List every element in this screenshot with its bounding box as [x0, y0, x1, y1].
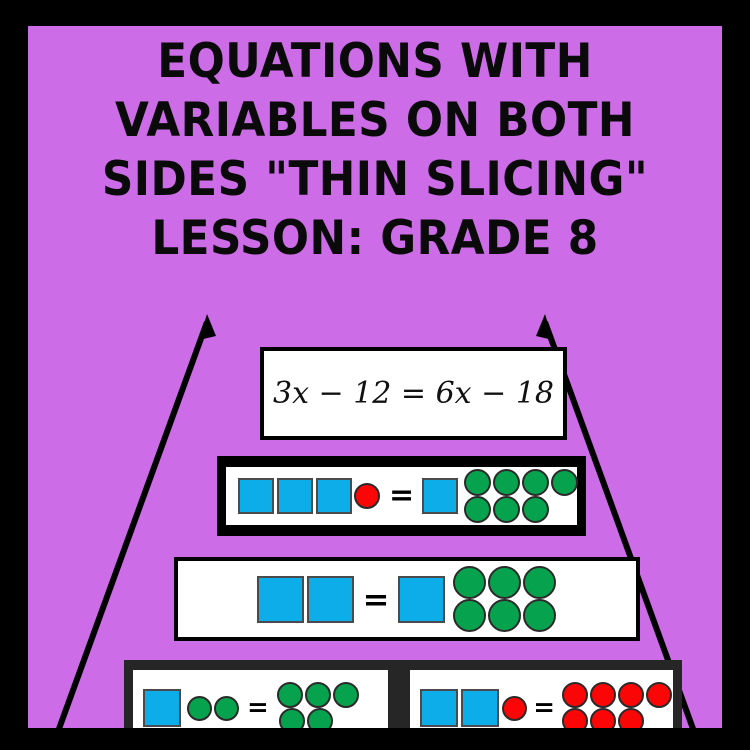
green-circle-chip [464, 496, 491, 523]
red-circle-chip [618, 708, 644, 728]
green-circle-chip [453, 599, 486, 632]
green-chip-stack [463, 469, 579, 523]
green-circle-chip [493, 496, 520, 523]
green-circle-chip [493, 469, 520, 496]
tier4-left-expression: = [143, 682, 360, 728]
equals-sign: = [363, 583, 390, 615]
equals-sign: = [247, 695, 269, 721]
tier3-left-side [257, 576, 354, 623]
red-chip-stack [561, 682, 673, 728]
green-circle-chip [307, 708, 333, 728]
green-circle-chip [551, 469, 578, 496]
red-circle-chip [590, 708, 616, 728]
equation-text: 3x − 12 = 6x − 18 [273, 376, 554, 411]
chip-row-bottom [452, 599, 557, 632]
tier3-right-side [398, 566, 557, 632]
red-circle-chip [646, 682, 672, 708]
tier2-panel: = [226, 467, 577, 525]
green-circle-chip [333, 682, 359, 708]
blue-square-tile [398, 576, 445, 623]
red-circle-chip [502, 696, 527, 721]
blue-square-tile [422, 478, 458, 514]
page-title: EQUATIONS WITH VARIABLES ON BOTH SIDES "… [28, 32, 722, 268]
red-circle-chip [562, 708, 588, 728]
green-circle-chip [523, 566, 556, 599]
poster-canvas: EQUATIONS WITH VARIABLES ON BOTH SIDES "… [28, 26, 722, 728]
chip-row-top [561, 682, 673, 708]
red-circle-chip [562, 682, 588, 708]
green-chip-stack [276, 682, 360, 728]
algebra-tiles-row-2: = [217, 456, 586, 536]
tier2-left-side [238, 478, 380, 514]
equals-sign: = [533, 695, 555, 721]
poster-root: EQUATIONS WITH VARIABLES ON BOTH SIDES "… [0, 0, 750, 750]
green-circle-chip [453, 566, 486, 599]
blue-square-tile [277, 478, 313, 514]
algebra-tiles-row-3: = [174, 557, 640, 641]
green-circle-chip [305, 682, 331, 708]
green-circle-chip [277, 682, 303, 708]
title-line-1: EQUATIONS WITH [52, 32, 697, 91]
green-circle-chip [214, 696, 239, 721]
algebra-tiles-row-4: = [124, 660, 682, 728]
chip-row-top [463, 469, 579, 496]
title-line-2: VARIABLES ON BOTH [52, 91, 697, 150]
green-circle-chip [522, 496, 549, 523]
blue-square-tile [307, 576, 354, 623]
green-circle-chip [523, 599, 556, 632]
red-circle-chip [618, 682, 644, 708]
red-circle-chip [354, 483, 380, 509]
equation-box: 3x − 12 = 6x − 18 [260, 347, 567, 440]
green-circle-chip [488, 566, 521, 599]
green-circle-chip [464, 469, 491, 496]
tier4-right-lhs [420, 689, 527, 727]
title-line-4: LESSON: GRADE 8 [52, 209, 697, 268]
red-circle-chip [590, 682, 616, 708]
equals-sign: = [389, 481, 414, 511]
tier4-panel-right: = [410, 670, 673, 728]
green-circle-chip [522, 469, 549, 496]
blue-square-tile [143, 689, 181, 727]
chip-row-top [452, 566, 557, 599]
tier3-expression: = [257, 566, 558, 632]
chip-row-bottom [463, 496, 579, 523]
green-circle-chip [488, 599, 521, 632]
blue-square-tile [238, 478, 274, 514]
tier4-panel-left: = [133, 670, 388, 728]
title-line-3: SIDES "THIN SLICING" [52, 150, 697, 209]
blue-square-tile [257, 576, 304, 623]
chip-row-bottom [278, 708, 360, 728]
green-chip-stack [452, 566, 557, 632]
chip-row-bottom [561, 708, 673, 728]
tier2-right-side [422, 469, 579, 523]
green-circle-chip [279, 708, 305, 728]
chip-row-top [276, 682, 360, 708]
tier4-right-expression: = [420, 682, 673, 728]
tier4-left-lhs [143, 689, 240, 727]
green-circle-chip [187, 696, 212, 721]
tier2-expression: = [238, 469, 579, 523]
blue-square-tile [420, 689, 458, 727]
blue-square-tile [461, 689, 499, 727]
blue-square-tile [316, 478, 352, 514]
